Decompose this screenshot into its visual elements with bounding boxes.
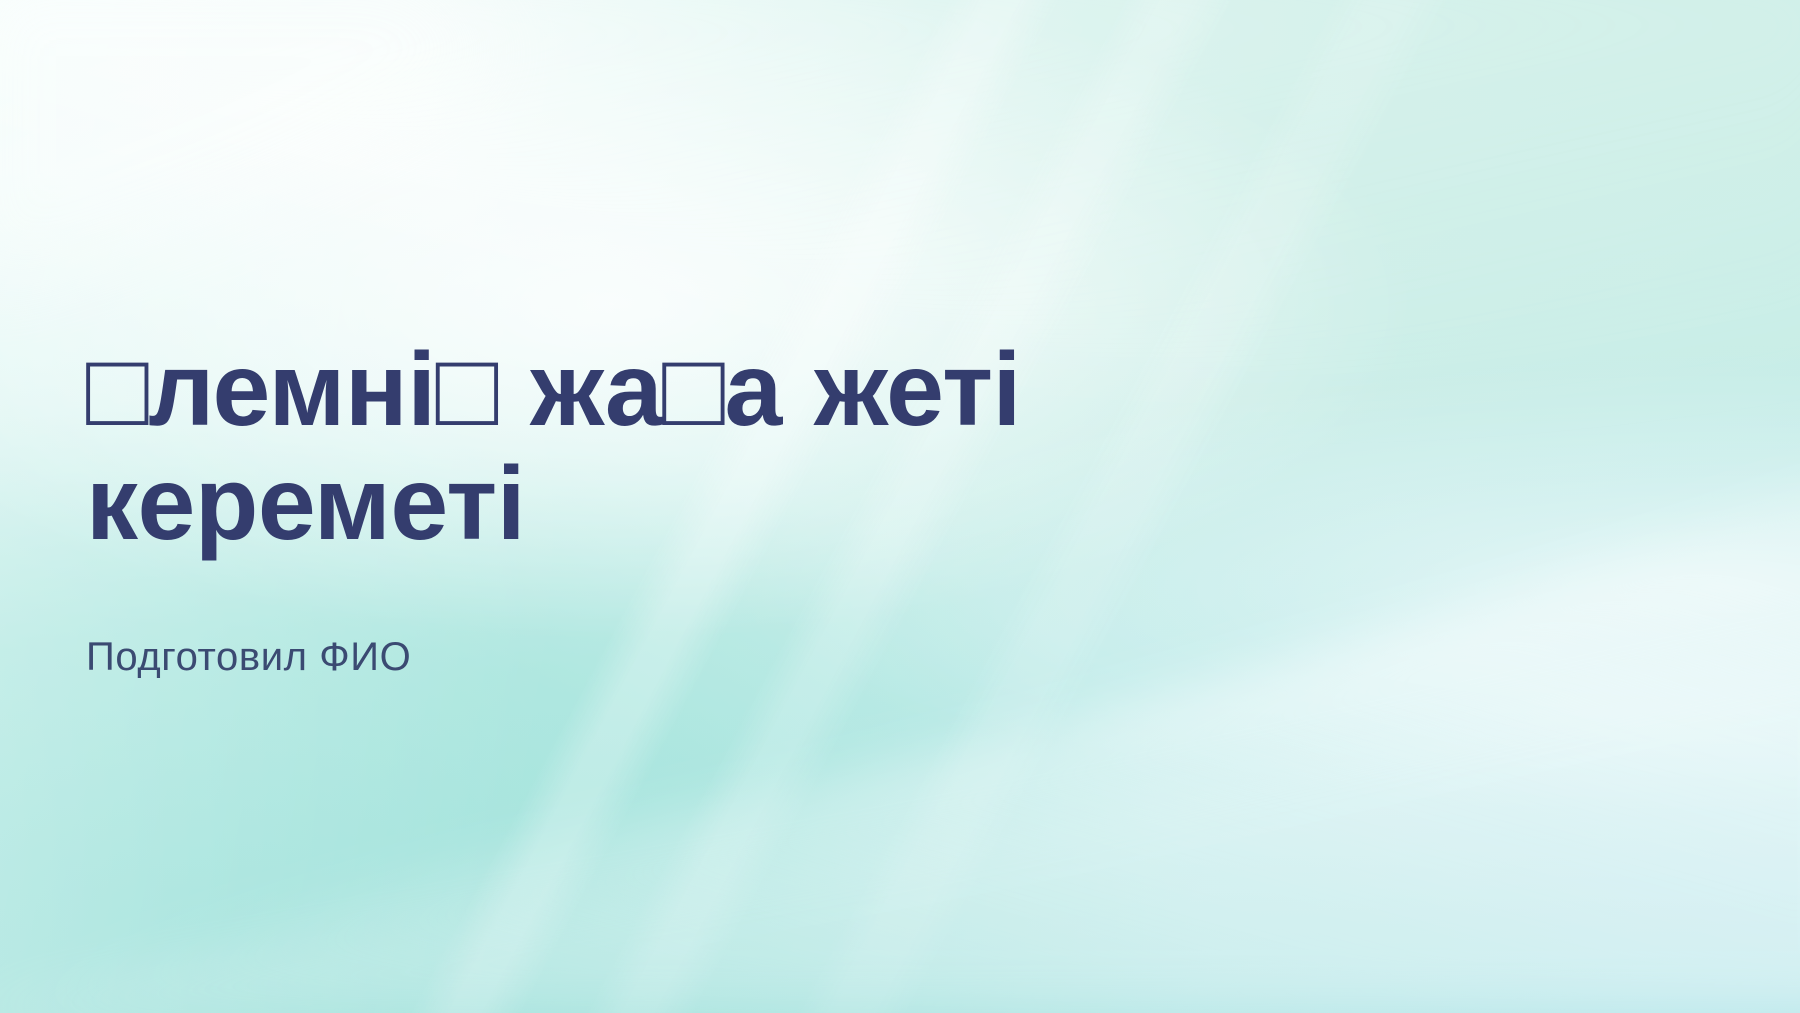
slide-title-line-1: □лемні□ жа□а жеті — [86, 332, 1021, 448]
slide-title-line-2: кереметі — [86, 446, 525, 562]
title-slide: □лемні□ жа□а жеті кереметі Подготовил ФИ… — [0, 0, 1800, 1013]
slide-subtitle: Подготовил ФИО — [86, 635, 1386, 680]
slide-title: □лемні□ жа□а жеті кереметі — [86, 333, 1326, 562]
slide-content: □лемні□ жа□а жеті кереметі Подготовил ФИ… — [86, 0, 1386, 1013]
